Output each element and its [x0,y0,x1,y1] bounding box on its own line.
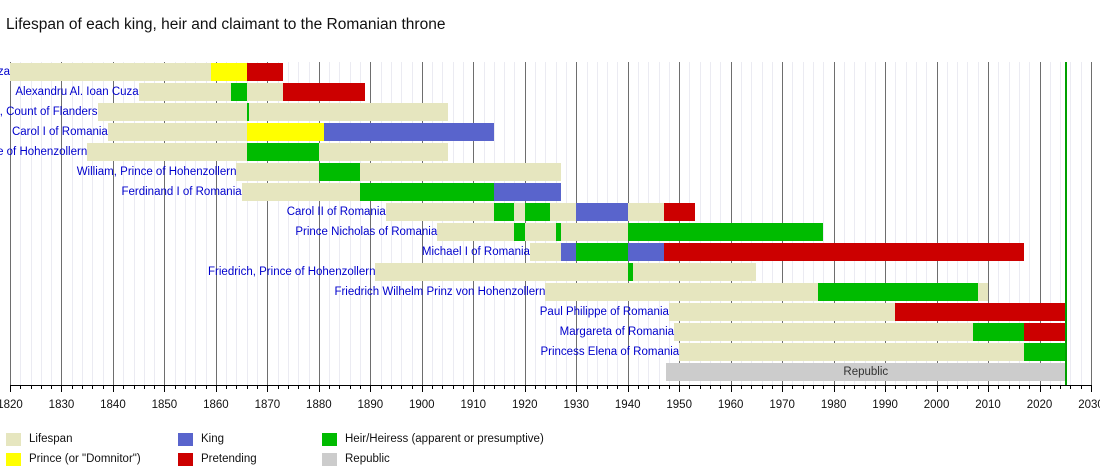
reign-segment-heir [494,203,515,221]
axis-tick-minor [350,385,351,389]
reign-segment-heir [360,183,494,201]
timeline-plot: RepublicAlexandru Ioan CuzaAlexandru Al.… [10,62,1091,385]
axis-tick-label: 1940 [615,399,641,411]
axis-tick-minor [123,385,124,389]
gridline-major [1091,62,1092,385]
axis-tick-major [1040,385,1041,392]
axis-tick-label: 2000 [924,399,950,411]
reign-segment-pretending [283,83,365,101]
axis-tick-minor [72,385,73,389]
reign-segment-prince [211,63,247,81]
axis-tick-label: 1870 [255,399,281,411]
axis-tick-minor [82,385,83,389]
timeline-row[interactable]: Carol II of Romania [10,202,1091,222]
reign-segment-heir [319,163,360,181]
axis-tick-minor [556,385,557,389]
axis-tick-minor [247,385,248,389]
axis-tick-major [216,385,217,392]
axis-tick-major [370,385,371,392]
lifespan-bar [375,263,756,281]
axis-tick-minor [134,385,135,389]
axis-tick-minor [844,385,845,389]
axis-tick-label: 1920 [512,399,538,411]
axis-tick-minor [20,385,21,389]
axis-tick-minor [92,385,93,389]
row-label: Margareta of Romania [560,323,675,341]
timeline-row[interactable]: William, Prince of Hohenzollern [10,162,1091,182]
axis-tick-minor [895,385,896,389]
reign-segment-pretending [664,243,1024,261]
axis-tick-minor [978,385,979,389]
timeline-row[interactable]: Michael I of Romania [10,242,1091,262]
row-label: Prince Nicholas of Romania [295,223,438,241]
legend-swatch-heir [322,433,337,446]
axis-tick-minor [638,385,639,389]
timeline-row[interactable]: Friedrich, Prince of Hohenzollern [10,262,1091,282]
timeline-row[interactable]: Alexandru Al. Ioan Cuza [10,82,1091,102]
lifespan-bar [98,103,448,121]
axis-tick-minor [309,385,310,389]
reign-segment-heir [576,243,627,261]
axis-tick-minor [772,385,773,389]
axis-tick-major [628,385,629,392]
axis-tick-minor [648,385,649,389]
axis-tick-minor [236,385,237,389]
reign-segment-heir [247,103,250,121]
axis-tick-minor [103,385,104,389]
axis-tick-minor [813,385,814,389]
timeline-row[interactable]: Prince Philippe, Count of Flanders [10,102,1091,122]
reign-segment-heir [247,143,319,161]
reign-segment-heir [1024,343,1065,361]
axis-tick-label: 1850 [152,399,178,411]
legend-item[interactable]: Lifespan [6,431,72,447]
legend-label: Heir/Heiress (apparent or presumptive) [345,433,544,445]
axis-tick-label: 1900 [409,399,435,411]
axis-tick-label: 1960 [718,399,744,411]
row-label: Alexandru Al. Ioan Cuza [15,83,139,101]
axis-tick-minor [865,385,866,389]
axis-tick-major [937,385,938,392]
axis-tick-minor [453,385,454,389]
axis-tick-minor [875,385,876,389]
legend-item[interactable]: Republic [322,451,390,467]
row-label: Michael I of Romania [422,243,531,261]
axis-tick-minor [669,385,670,389]
legend-item[interactable]: Heir/Heiress (apparent or presumptive) [322,431,544,447]
timeline-row[interactable]: Paul Philippe of Romania [10,302,1091,322]
axis-tick-minor [967,385,968,389]
axis-tick-label: 1970 [769,399,795,411]
axis-tick-label: 1980 [821,399,847,411]
axis-tick-minor [792,385,793,389]
axis-tick-label: 2010 [975,399,1001,411]
axis-tick-minor [535,385,536,389]
legend-item[interactable]: Pretending [178,451,257,467]
axis-tick-major [576,385,577,392]
axis-tick-minor [442,385,443,389]
row-label: Friedrich, Prince of Hohenzollern [208,263,376,281]
axis-tick-minor [144,385,145,389]
row-label: Princess Elena of Romania [540,343,680,361]
row-label: Carol I of Romania [12,123,109,141]
reign-segment-pretending [1024,323,1065,341]
axis-tick-minor [998,385,999,389]
axis-tick-major [731,385,732,392]
reign-segment-heir [628,223,824,241]
axis-tick-major [319,385,320,392]
axis-tick-minor [710,385,711,389]
axis-tick-major [834,385,835,392]
timeline-row[interactable]: Alexandru Ioan Cuza [10,62,1091,82]
axis-tick-minor [360,385,361,389]
axis-tick-minor [31,385,32,389]
reign-segment-heir [556,223,561,241]
row-label: Alexandru Ioan Cuza [0,63,11,81]
legend-item[interactable]: Prince (or "Domnitor") [6,451,141,467]
axis-tick-minor [906,385,907,389]
axis-tick-label: 1990 [872,399,898,411]
row-label: Prince Philippe, Count of Flanders [0,103,99,121]
axis-tick-minor [545,385,546,389]
row-label: Friedrich Wilhelm Prinz von Hohenzollern [334,283,546,301]
axis-tick-major [1091,385,1092,392]
axis-tick-minor [226,385,227,389]
axis-tick-label: 2030 [1078,399,1100,411]
axis-tick-label: 1820 [0,399,23,411]
reign-segment-king [324,123,494,141]
reign-segment-heir [231,83,246,101]
axis-tick-minor [1060,385,1061,389]
axis-tick-major [164,385,165,392]
axis-tick-minor [1019,385,1020,389]
reign-segment-king [576,203,627,221]
axis-tick-minor [1050,385,1051,389]
axis-tick-minor [1081,385,1082,389]
axis-tick-minor [803,385,804,389]
axis-tick-label: 1910 [460,399,486,411]
timeline-row[interactable]: Leopold, Prince of Hohenzollern [10,142,1091,162]
axis-tick-minor [504,385,505,389]
axis-tick-minor [288,385,289,389]
axis-tick-minor [926,385,927,389]
axis-tick-major [267,385,268,392]
axis-tick-minor [432,385,433,389]
axis-tick-minor [957,385,958,389]
reign-segment-heir [525,203,551,221]
axis-tick-minor [854,385,855,389]
timeline-row[interactable]: Princess Elena of Romania [10,342,1091,362]
axis-tick-minor [463,385,464,389]
reign-segment-king [494,183,561,201]
axis-tick-minor [741,385,742,389]
axis-tick-minor [391,385,392,389]
axis-tick-minor [298,385,299,389]
legend-swatch-pretending [178,453,193,466]
axis-tick-major [525,385,526,392]
legend-label: King [201,433,224,445]
row-label: Paul Philippe of Romania [540,303,670,321]
axis-tick-major [10,385,11,392]
legend-item[interactable]: King [178,431,224,447]
axis-tick-major [782,385,783,392]
axis-tick-major [422,385,423,392]
axis-tick-label: 1930 [563,399,589,411]
axis-tick-minor [823,385,824,389]
reign-segment-pretending [664,203,695,221]
axis-tick-minor [278,385,279,389]
axis-tick-minor [412,385,413,389]
current-year-line [1065,62,1066,385]
legend-swatch-prince [6,453,21,466]
axis-tick-minor [339,385,340,389]
reign-segment-heir [514,223,524,241]
row-label: Leopold, Prince of Hohenzollern [0,143,88,161]
axis-tick-major [61,385,62,392]
axis-tick-major [113,385,114,392]
axis-tick-major [473,385,474,392]
reign-segment-pretending [247,63,283,81]
axis-tick-major [988,385,989,392]
axis-tick-minor [195,385,196,389]
reign-segment-heir [818,283,978,301]
legend-label: Pretending [201,453,257,465]
republic-band: Republic [666,363,1065,381]
reign-segment-prince [247,123,324,141]
axis-tick-minor [607,385,608,389]
axis-tick-label: 1880 [306,399,332,411]
reign-segment-king [561,243,576,261]
axis-tick-major [885,385,886,392]
chart-legend: LifespanPrince (or "Domnitor")KingPreten… [6,431,1096,467]
legend-swatch-republic [322,453,337,466]
axis-tick-minor [494,385,495,389]
row-label: Carol II of Romania [287,203,387,221]
axis-tick-minor [257,385,258,389]
timeline-row[interactable]: Carol I of Romania [10,122,1091,142]
reign-segment-heir [973,323,1024,341]
axis-tick-minor [1029,385,1030,389]
axis-tick-label: 1860 [203,399,229,411]
axis-tick-label: 1830 [49,399,75,411]
axis-tick-minor [185,385,186,389]
legend-swatch-lifespan [6,433,21,446]
lifespan-bar [679,343,1065,361]
axis-tick-minor [947,385,948,389]
axis-tick-minor [566,385,567,389]
axis-tick-major [679,385,680,392]
legend-swatch-king [178,433,193,446]
axis-tick-minor [689,385,690,389]
axis-tick-minor [175,385,176,389]
legend-label: Prince (or "Domnitor") [29,453,141,465]
axis-tick-minor [1009,385,1010,389]
reign-segment-pretending [895,303,1065,321]
axis-tick-minor [700,385,701,389]
axis-tick-label: 1950 [666,399,692,411]
axis-tick-minor [51,385,52,389]
axis-tick-minor [154,385,155,389]
reign-segment-king [628,243,664,261]
timeline-row[interactable]: Friedrich Wilhelm Prinz von Hohenzollern [10,282,1091,302]
axis-tick-minor [659,385,660,389]
axis-tick-minor [762,385,763,389]
page-title: Lifespan of each king, heir and claimant… [6,16,445,34]
axis-tick-minor [751,385,752,389]
axis-tick-minor [401,385,402,389]
axis-tick-minor [329,385,330,389]
legend-label: Lifespan [29,433,72,445]
axis-tick-label: 1840 [100,399,126,411]
axis-tick-minor [720,385,721,389]
axis-tick-minor [587,385,588,389]
legend-label: Republic [345,453,390,465]
axis-tick-label: 2020 [1027,399,1053,411]
axis-tick-minor [381,385,382,389]
axis-tick-minor [41,385,42,389]
row-label: Ferdinand I of Romania [121,183,242,201]
timeline-row[interactable]: Margareta of Romania [10,322,1091,342]
reign-segment-heir [628,263,633,281]
row-label: William, Prince of Hohenzollern [77,163,238,181]
axis-tick-minor [484,385,485,389]
axis-tick-label: 1890 [358,399,384,411]
axis-tick-minor [617,385,618,389]
timeline-row[interactable]: Ferdinand I of Romania [10,182,1091,202]
axis-tick-minor [514,385,515,389]
lifespan-bar [236,163,560,181]
axis-tick-minor [206,385,207,389]
axis-tick-minor [1070,385,1071,389]
axis-tick-minor [916,385,917,389]
timeline-row[interactable]: Prince Nicholas of Romania [10,222,1091,242]
axis-tick-minor [597,385,598,389]
